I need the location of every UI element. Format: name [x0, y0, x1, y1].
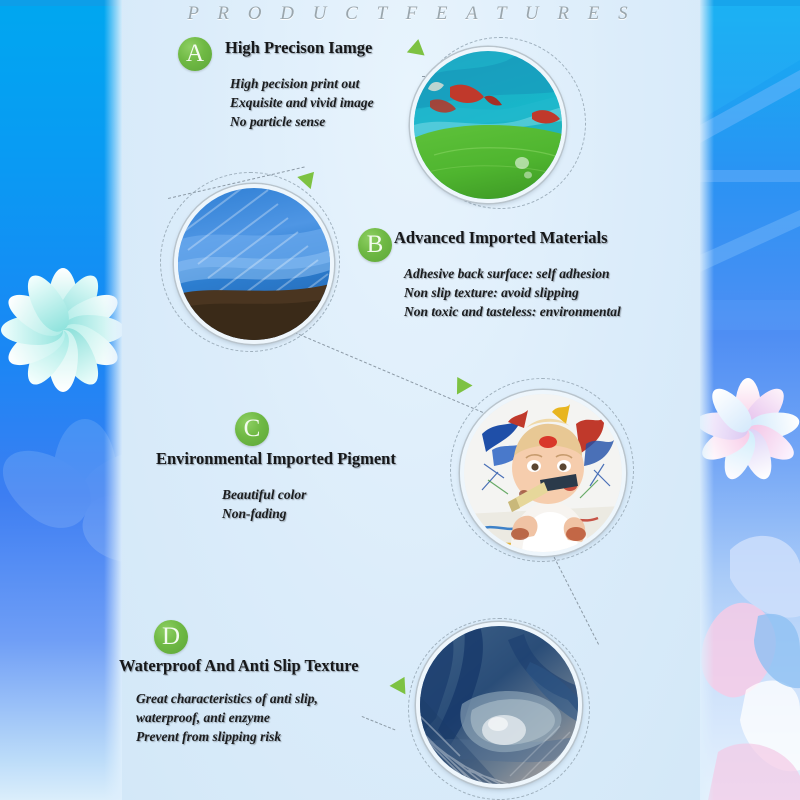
feature-title-a: High Precison Iamge	[225, 38, 372, 58]
feature-image-b	[152, 162, 352, 362]
feature-badge-c: C	[235, 412, 269, 446]
feature-title-c: Environmental Imported Pigment	[156, 449, 396, 469]
printed-fish-lotus-photo	[410, 47, 566, 203]
feature-lines-b: Adhesive back surface: self adhesion Non…	[404, 264, 621, 321]
feature-line: Non-fading	[222, 504, 306, 523]
feature-line: Non toxic and tasteless: environmental	[404, 302, 621, 321]
feature-badge-d: D	[154, 620, 188, 654]
feature-badge-b: B	[358, 228, 392, 262]
left-border-fade	[104, 0, 122, 800]
feature-line: No particle sense	[230, 112, 374, 131]
blue-fabric-backing-photo	[174, 184, 334, 344]
feature-line: Exquisite and vivid image	[230, 93, 374, 112]
feature-image-c	[442, 372, 642, 572]
right-decorative-border	[700, 0, 800, 800]
feature-badge-a: A	[178, 37, 212, 71]
arrow-icon-c	[449, 373, 472, 395]
feature-line: waterproof, anti enzyme	[136, 708, 318, 727]
content-panel: P R O D U C T F E A T U R E S A High Pre…	[122, 0, 700, 800]
right-border-fade	[700, 0, 714, 800]
feature-line: Prevent from slipping risk	[136, 727, 318, 746]
left-decorative-border	[0, 0, 122, 800]
arrow-icon-b	[297, 166, 320, 189]
arrow-icon-a	[407, 38, 427, 56]
feature-lines-c: Beautiful color Non-fading	[222, 485, 306, 523]
product-features-infographic: P R O D U C T F E A T U R E S A High Pre…	[0, 0, 800, 800]
feature-lines-d: Great characteristics of anti slip, wate…	[136, 689, 318, 746]
feature-line: Beautiful color	[222, 485, 306, 504]
feature-line: Adhesive back surface: self adhesion	[404, 264, 621, 283]
feature-line: Great characteristics of anti slip,	[136, 689, 318, 708]
feature-image-d	[402, 608, 602, 800]
feature-title-d: Waterproof And Anti Slip Texture	[119, 656, 359, 676]
feature-image-a	[408, 35, 588, 213]
baby-with-paintbrush-photo	[460, 390, 626, 556]
right-bottom-petals	[700, 520, 800, 800]
feature-line: High pecision print out	[230, 74, 374, 93]
page-title: P R O D U C T F E A T U R E S	[122, 3, 700, 25]
feature-line: Non slip texture: avoid slipping	[404, 283, 621, 302]
feature-lines-a: High pecision print out Exquisite and vi…	[230, 74, 374, 131]
diagonal-stripes-icon	[700, 0, 800, 330]
water-droplet-texture-photo	[416, 622, 582, 788]
feature-title-b: Advanced Imported Materials	[394, 228, 608, 248]
